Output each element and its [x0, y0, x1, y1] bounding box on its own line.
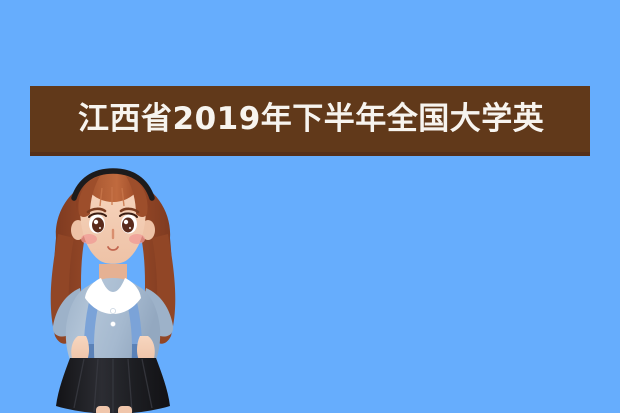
title-banner: 江西省2019年下半年全国大学英 [30, 86, 590, 156]
schoolgirl-illustration [22, 168, 204, 413]
skirt [56, 358, 170, 413]
page-title: 江西省2019年下半年全国大学英 [30, 104, 544, 135]
blush-right [129, 234, 145, 244]
blush-left [81, 234, 97, 244]
thumbnail-canvas: 江西省2019年下半年全国大学英 [0, 0, 620, 413]
